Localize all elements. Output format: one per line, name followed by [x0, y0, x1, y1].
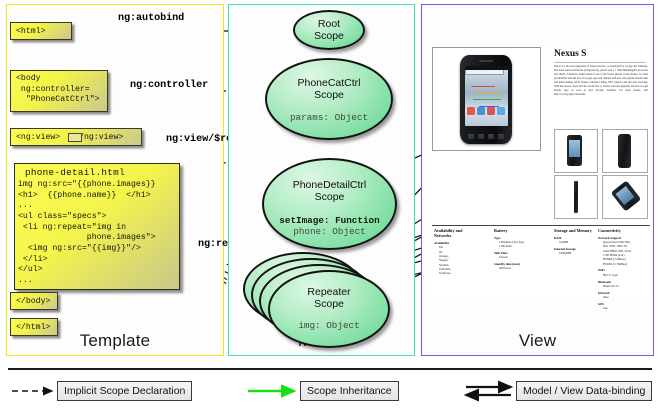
thumbnail-3-phone-side — [574, 181, 578, 213]
legend-glyph-databinding — [466, 387, 511, 395]
scope-repeater-title-line1: Repeater — [270, 287, 388, 299]
scope-phonedetailctrl-prop-setimage: setImage: Function — [264, 215, 395, 226]
phone-statusbar — [465, 66, 508, 70]
spec-val-gps-0: true — [598, 306, 650, 310]
spec-head-availability: Availability and Networks — [434, 228, 486, 239]
phone-menu-button — [478, 134, 484, 139]
code-box-html-close: </html> — [10, 318, 58, 336]
ngview-open-text: <ng:view> — [16, 133, 60, 142]
scope-phonedetailctrl-title-line2: Scope — [264, 192, 395, 204]
scope-repeater-stack: Repeater Scope img: Object — [243, 252, 403, 350]
legend-label-implicit-scope-declaration: Implicit Scope Declaration — [57, 381, 192, 401]
phone-speaker — [479, 60, 493, 62]
phone-app-icons — [467, 107, 506, 115]
code-box-html-open: <html> — [10, 22, 72, 40]
scope-phonecatctrl: PhoneCatCtrl Scope params: Object — [265, 58, 393, 140]
thumbnail-4[interactable] — [602, 175, 648, 219]
thumbnail-1-phone — [567, 135, 582, 166]
spec-table: Availability and Networks Availability M… — [432, 225, 650, 341]
phone-home-button — [488, 134, 494, 139]
thumbnail-1[interactable] — [554, 129, 598, 173]
scope-repeater: Repeater Scope img: Object — [268, 270, 390, 348]
ngview-slot-icon — [68, 133, 82, 142]
hero-image-frame — [432, 47, 541, 151]
phone-detail-filename: phone-detail.html — [15, 164, 179, 180]
spec-val-availability-6: Vodafone — [434, 271, 486, 275]
legend-label-scope-inheritance: Scope Inheritance — [300, 381, 399, 401]
spec-val-battery-talktime-0: 6 hours — [494, 255, 550, 259]
scope-phonedetailctrl-prop-phone: phone: Object — [264, 226, 395, 237]
spec-column-availability: Availability and Networks Availability M… — [434, 228, 486, 276]
phone-search-button — [498, 134, 504, 139]
scope-phonecatctrl-title-line2: Scope — [267, 90, 391, 102]
phone-back-button — [468, 134, 474, 139]
spec-val-bluetooth-0: Bluetooth 2.1 — [598, 284, 650, 288]
scope-phonedetailctrl-title-line1: PhoneDetailCtrl — [264, 180, 395, 192]
phone-nav-buttons — [466, 132, 506, 140]
app-icon-1 — [467, 107, 475, 115]
scope-root-title-line1: Root — [295, 19, 363, 31]
scope-repeater-title-line2: Scope — [270, 299, 388, 311]
scope-repeater-prop-img: img: Object — [270, 320, 388, 331]
thumbnail-4-phone-angled — [611, 180, 642, 211]
spec-head-battery: Battery — [494, 228, 550, 233]
phone-hero-image — [460, 55, 512, 144]
legend-label-model-view-data-binding: Model / View Data-binding — [516, 381, 652, 401]
spec-val-infrared-0: false — [598, 295, 650, 299]
spec-head-connectivity: Connectivity — [598, 228, 650, 233]
app-icon-3 — [487, 107, 495, 115]
code-box-phone-detail: phone-detail.html img ng:src="{{phone.im… — [14, 163, 180, 290]
scope-phonecatctrl-prop-params: params: Object — [267, 112, 391, 123]
phone-line-red — [471, 86, 495, 87]
scope-phonedetailctrl: PhoneDetailCtrl Scope setImage: Function… — [262, 158, 397, 250]
spec-column-battery: Battery Type Lithium Ion (Li-Ion) 1500 m… — [494, 228, 550, 271]
label-ng-controller: ng:controller — [130, 80, 208, 91]
code-box-body-open: <body ng:controller= "PhoneCatCtrl"> — [10, 70, 108, 112]
spec-val-battery-standby-0: 428 hours — [494, 266, 550, 270]
code-box-body-close: </body> — [10, 292, 58, 310]
phone-screen — [465, 66, 508, 126]
phone-detail-code: img ng:src="{{phone.images}} <h1> {{phon… — [15, 180, 179, 287]
app-icon-2 — [477, 107, 485, 115]
view-product-page: Nexus S Nexus S is the next generation o… — [432, 47, 650, 297]
label-ng-autobind: ng:autobind — [118, 13, 184, 24]
spec-val-wifi-0: 802.11 b/g/n — [598, 273, 650, 277]
spec-val-network-5: HSUPA (5.76Mbps) — [598, 262, 650, 266]
thumbnail-2-phone-back — [618, 134, 631, 168]
app-icon-4 — [497, 107, 505, 115]
scope-phonecatctrl-title-line1: PhoneCatCtrl — [267, 78, 391, 90]
phone-line-yellow — [475, 92, 501, 93]
phone-line-green — [473, 99, 501, 100]
legend-divider — [8, 368, 652, 370]
scope-root-title-line2: Scope — [295, 31, 363, 43]
thumbnail-3[interactable] — [554, 175, 598, 219]
diagram-canvas: Template <html> <body ng:controller= "Ph… — [0, 0, 660, 420]
spec-column-connectivity: Connectivity Network Support Quad-band G… — [598, 228, 650, 310]
scope-root: Root Scope — [293, 10, 365, 50]
spec-val-battery-type-1: 1500 mAh — [494, 244, 550, 248]
product-title: Nexus S — [554, 49, 586, 59]
product-description: Nexus S is the next generation of Nexus … — [554, 65, 648, 97]
thumbnail-2[interactable] — [602, 129, 648, 173]
product-title-rule — [554, 62, 646, 63]
